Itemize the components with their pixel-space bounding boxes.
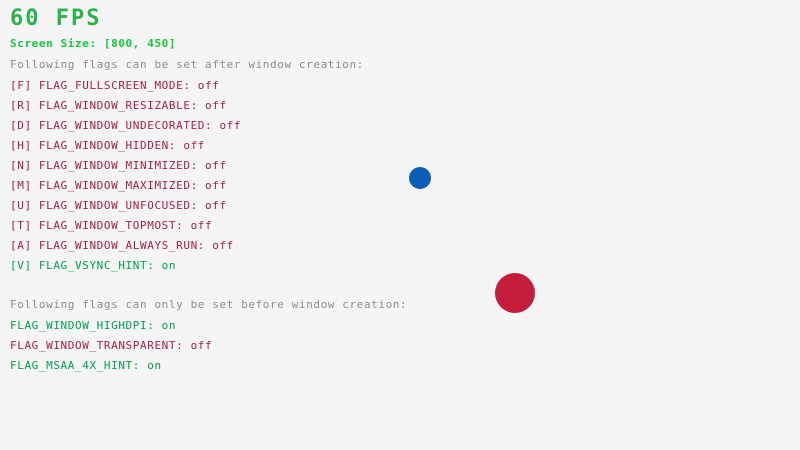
flag-row-window-undecorated[interactable]: [D] FLAG_WINDOW_UNDECORATED: off — [10, 119, 241, 132]
flag-row-fullscreen-mode[interactable]: [F] FLAG_FULLSCREEN_MODE: off — [10, 79, 219, 92]
flag-row-window-maximized[interactable]: [M] FLAG_WINDOW_MAXIMIZED: off — [10, 179, 227, 192]
flag-row-window-topmost[interactable]: [T] FLAG_WINDOW_TOPMOST: off — [10, 219, 212, 232]
flag-row-window-unfocused[interactable]: [U] FLAG_WINDOW_UNFOCUSED: off — [10, 199, 227, 212]
flag-row-window-always-run[interactable]: [A] FLAG_WINDOW_ALWAYS_RUN: off — [10, 239, 234, 252]
flag-row-window-minimized[interactable]: [N] FLAG_WINDOW_MINIMIZED: off — [10, 159, 227, 172]
before-creation-header: Following flags can only be set before w… — [10, 298, 407, 311]
red-ball-shape — [495, 273, 535, 313]
raylib-window-canvas[interactable]: 60 FPS Screen Size: [800, 450] Following… — [0, 0, 800, 450]
flag-row-window-highdpi: FLAG_WINDOW_HIGHDPI: on — [10, 319, 176, 332]
after-creation-header: Following flags can be set after window … — [10, 58, 364, 71]
flag-row-msaa-4x-hint: FLAG_MSAA_4X_HINT: on — [10, 359, 162, 372]
screen-size-label: Screen Size: [800, 450] — [10, 37, 176, 50]
flag-row-vsync-hint[interactable]: [V] FLAG_VSYNC_HINT: on — [10, 259, 176, 272]
flag-row-window-resizable[interactable]: [R] FLAG_WINDOW_RESIZABLE: off — [10, 99, 227, 112]
fps-counter: 60 FPS — [10, 6, 101, 31]
blue-ball-shape — [409, 167, 431, 189]
flag-row-window-transparent: FLAG_WINDOW_TRANSPARENT: off — [10, 339, 212, 352]
flag-row-window-hidden[interactable]: [H] FLAG_WINDOW_HIDDEN: off — [10, 139, 205, 152]
